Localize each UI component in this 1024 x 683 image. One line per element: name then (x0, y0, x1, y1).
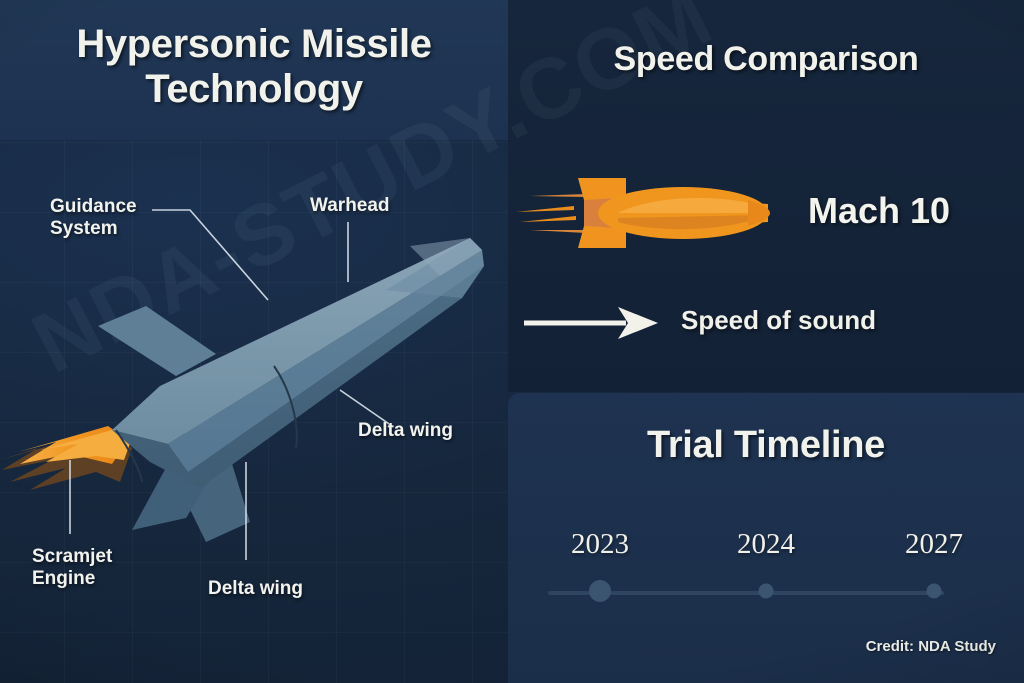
callout-delta-wing-bottom: Delta wing (208, 578, 303, 600)
timeline-year-2027: 2027 (905, 528, 963, 561)
rocket-icon (508, 160, 808, 265)
speed-row-sound: Speed of sound (508, 295, 1024, 355)
mach-value-label: Mach 10 (808, 190, 950, 232)
infographic-root: NDA-STUDY.COM Hypersonic Missile Technol… (0, 0, 1024, 683)
credit-label: Credit: NDA Study (866, 638, 996, 655)
callout-scramjet-engine: Scramjet Engine (32, 546, 172, 591)
timeline-dot-2023[interactable] (589, 580, 611, 602)
arrow-right-icon (508, 295, 673, 351)
timeline-year-2024: 2024 (737, 528, 795, 561)
rear-fin-upper (98, 306, 216, 376)
callout-guidance-system: Guidance System (50, 196, 180, 241)
timeline-dot-2024[interactable] (759, 584, 774, 599)
callout-warhead: Warhead (310, 195, 390, 217)
callout-delta-wing-top: Delta wing (358, 420, 453, 442)
timeline-dot-2027[interactable] (927, 584, 942, 599)
exhaust-flame (0, 426, 132, 490)
speed-comparison-title: Speed Comparison (508, 40, 1024, 79)
timeline-year-2023: 2023 (571, 528, 629, 561)
speed-row-hypersonic: Mach 10 (508, 160, 1024, 265)
sound-label: Speed of sound (681, 305, 876, 336)
timeline-year-labels: 2023 2024 2027 (508, 528, 1024, 568)
trial-timeline-title: Trial Timeline (508, 424, 1024, 467)
page-title: Hypersonic Missile Technology (0, 22, 508, 112)
